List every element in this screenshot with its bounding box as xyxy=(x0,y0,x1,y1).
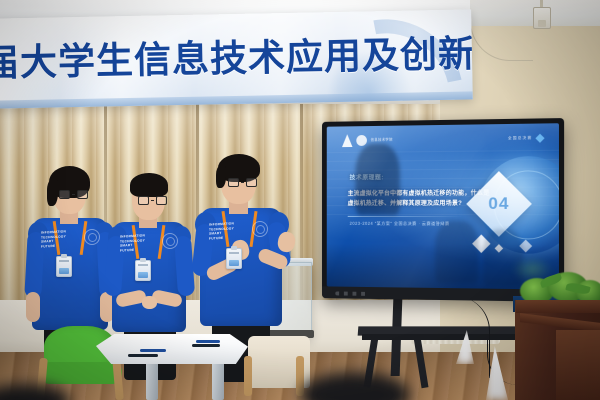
badge-header xyxy=(229,252,239,254)
forearm-left xyxy=(26,292,40,322)
lens-right xyxy=(77,190,88,199)
glasses-bridge xyxy=(151,200,154,201)
pen-blue-2[interactable] xyxy=(196,340,220,343)
id-badge xyxy=(226,248,242,269)
lens-left xyxy=(138,196,149,205)
hex-table[interactable] xyxy=(96,334,248,364)
lens-right xyxy=(246,178,257,187)
table-leg-left xyxy=(146,360,158,400)
lens-left xyxy=(59,190,70,199)
badge-photo xyxy=(59,268,69,274)
lens-left xyxy=(228,178,239,187)
shirt-print-text: INFORMATION TECHNOLOGY SMART FUTURE xyxy=(209,221,234,241)
badge-clip xyxy=(61,254,67,258)
shirt-logo-icon xyxy=(162,233,178,249)
curtain-seam xyxy=(196,104,199,316)
id-badge xyxy=(135,260,151,281)
pen-blue-1[interactable] xyxy=(140,349,166,352)
shirt-print-text: INFORMATION TECHNOLOGY SMART FUTURE xyxy=(41,229,66,249)
photo-scene: 届大学生信息技术应用及创新大赛 信息技术学院 全国总决赛 xyxy=(0,0,600,400)
shirt-logo-icon xyxy=(252,221,268,237)
hair-side xyxy=(216,166,226,188)
cabinet-top-rail xyxy=(516,300,600,313)
chair-green-seat[interactable] xyxy=(40,362,122,384)
motion-sensor-icon xyxy=(533,7,551,29)
hands-clasped xyxy=(142,296,157,309)
event-banner: 届大学生信息技术应用及创新大赛 xyxy=(0,9,473,108)
lens-right xyxy=(156,196,167,205)
id-badge xyxy=(56,256,72,277)
pen-dark-1[interactable] xyxy=(128,354,158,357)
pen-dark-2[interactable] xyxy=(192,344,220,347)
shirt-logo-icon xyxy=(84,229,100,245)
badge-clip xyxy=(231,246,237,250)
shirt-print-text: INFORMATION TECHNOLOGY SMART FUTURE xyxy=(120,233,145,253)
hair xyxy=(130,173,168,197)
chair-wood-leg xyxy=(244,356,252,396)
glasses-bridge xyxy=(241,182,244,183)
cabinet-side xyxy=(556,330,600,400)
glasses-icon xyxy=(228,178,257,187)
badge-clip xyxy=(140,258,146,262)
banner-title: 届大学生信息技术应用及创新大赛 xyxy=(0,35,473,82)
badge-photo xyxy=(229,260,239,266)
glasses-icon xyxy=(59,190,88,199)
display-buttons[interactable] xyxy=(335,291,368,295)
badge-header xyxy=(59,260,69,262)
badge-photo xyxy=(138,272,148,278)
hair-side xyxy=(47,180,58,206)
slide-canvas: 信息技术学院 全国总决赛 技术原理题: 主流虚拟化平台中都有虚拟机热迁移的功能，… xyxy=(327,123,559,289)
glasses-bridge xyxy=(72,194,75,195)
badge-header xyxy=(138,264,148,266)
presentation-display[interactable]: 信息技术学院 全国总决赛 技术原理题: 主流虚拟化平台中都有虚拟机热迁移的功能，… xyxy=(322,118,564,302)
table-leg-right xyxy=(212,360,224,400)
glasses-icon xyxy=(138,196,167,205)
screen-glare xyxy=(327,123,559,289)
display-bezel: 信息技术学院 全国总决赛 技术原理题: 主流虚拟化平台中都有虚拟机热迁移的功能，… xyxy=(327,123,559,289)
